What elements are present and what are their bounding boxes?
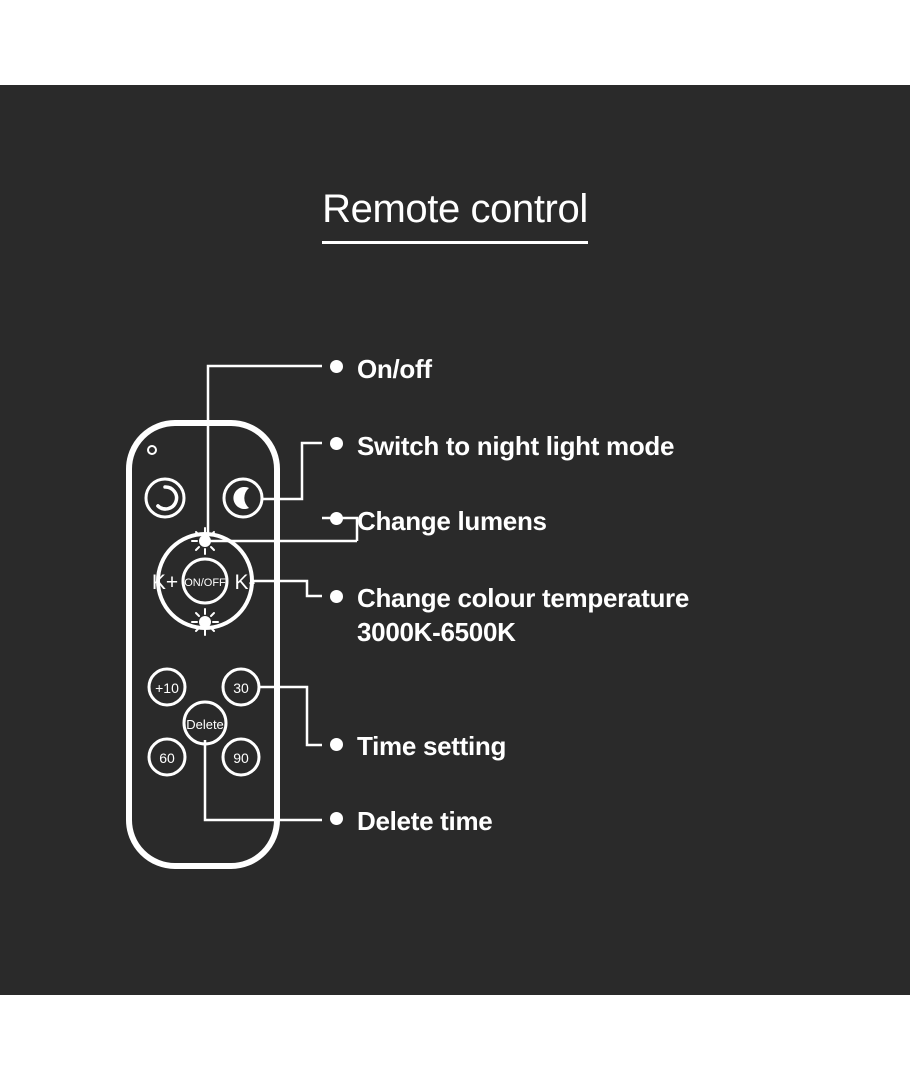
sun-icon-up[interactable] bbox=[192, 528, 218, 554]
timer-label-sixty: 60 bbox=[159, 750, 175, 766]
bullet-lumens bbox=[330, 512, 343, 525]
timer-label-ninety: 90 bbox=[233, 750, 249, 766]
bullet-colour-temperature bbox=[330, 590, 343, 603]
bullet-night-light bbox=[330, 437, 343, 450]
timer-label-delete: Delete bbox=[186, 717, 224, 732]
bullet-on-off bbox=[330, 360, 343, 373]
ir-led-icon bbox=[148, 446, 156, 454]
bullet-time-setting bbox=[330, 738, 343, 751]
timer-button-delete[interactable]: Delete bbox=[184, 702, 226, 744]
power-ring-icon[interactable] bbox=[146, 479, 184, 517]
timer-button-thirty[interactable]: 30 bbox=[223, 669, 259, 705]
page-root: Remote control bbox=[0, 0, 910, 1080]
timer-button-ninety[interactable]: 90 bbox=[223, 739, 259, 775]
timer-label-thirty: 30 bbox=[233, 680, 249, 696]
sun-icon-down[interactable] bbox=[192, 609, 218, 635]
moon-icon[interactable] bbox=[224, 479, 262, 517]
callout-on-off: On/off bbox=[357, 352, 432, 386]
callout-night-light: Switch to night light mode bbox=[357, 429, 674, 463]
timer-button-plus-ten[interactable]: +10 bbox=[149, 669, 185, 705]
kelvin-plus-label[interactable]: K+ bbox=[152, 571, 178, 594]
bullet-delete-time bbox=[330, 812, 343, 825]
remote-diagram: K+ K- ON/OFF +10 30 Delete 60 90 bbox=[0, 85, 910, 995]
kelvin-minus-label[interactable]: K- bbox=[235, 571, 256, 594]
callout-lumens: Change lumens bbox=[357, 504, 547, 538]
leader-line-time-setting bbox=[258, 687, 322, 745]
leader-line-on-off bbox=[208, 366, 322, 545]
callout-time-setting: Time setting bbox=[357, 729, 506, 763]
remote-body-outline[interactable] bbox=[129, 423, 277, 866]
on-off-label[interactable]: ON/OFF bbox=[184, 577, 226, 589]
callout-delete-time: Delete time bbox=[357, 804, 492, 838]
callout-colour-temperature: Change colour temperature 3000K-6500K bbox=[357, 581, 689, 649]
timer-button-sixty[interactable]: 60 bbox=[149, 739, 185, 775]
leader-line-colour-temp bbox=[252, 581, 322, 596]
timer-label-plus-ten: +10 bbox=[155, 680, 179, 696]
